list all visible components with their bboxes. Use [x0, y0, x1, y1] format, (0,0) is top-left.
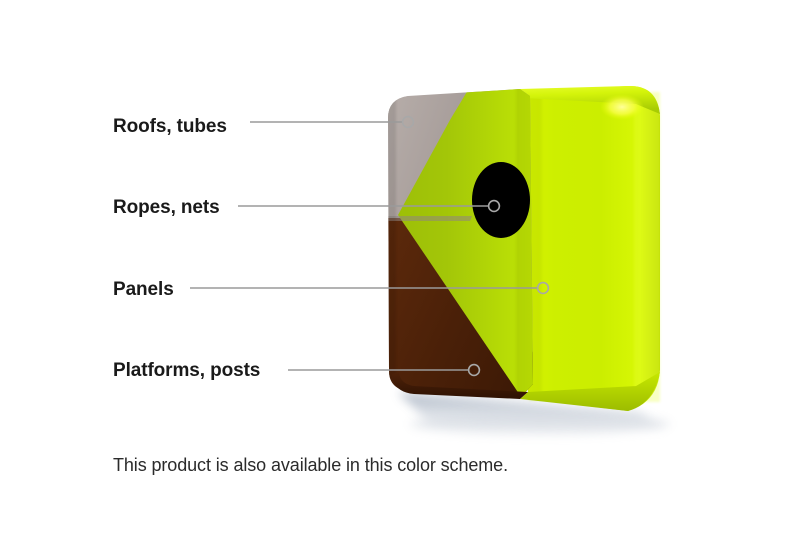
screenshot-root: Roofs, tubesRopes, netsPanelsPlatforms, … — [0, 0, 800, 533]
lens-circle — [472, 162, 530, 238]
callout-roofs-tubes-label: Roofs, tubes — [113, 117, 227, 136]
product-right-face — [528, 86, 660, 411]
callout-panels-label: Panels — [113, 280, 174, 299]
product-illustration — [0, 0, 800, 533]
caption-text: This product is also available in this c… — [113, 455, 508, 476]
callout-ropes-nets-label: Ropes, nets — [113, 198, 220, 217]
callout-platforms-posts-label: Platforms, posts — [113, 361, 260, 380]
specular-highlight — [600, 94, 644, 120]
